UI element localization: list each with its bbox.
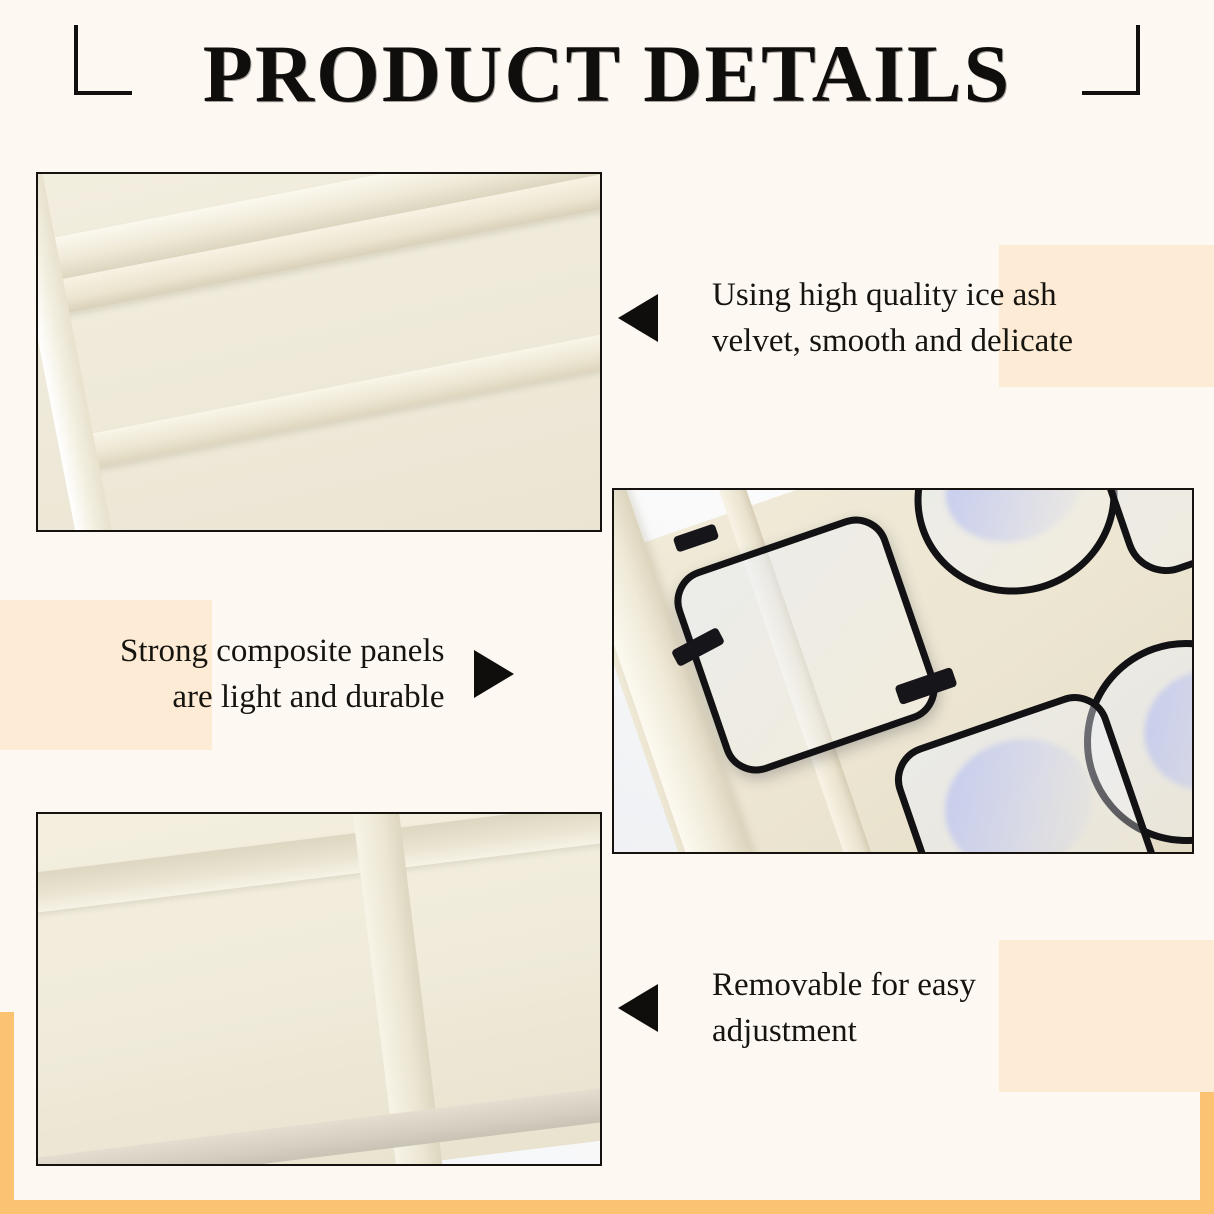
arrow-left-icon: [618, 984, 658, 1032]
product-photo-tray-corner: [36, 172, 602, 532]
product-photo-tray-panel: [36, 812, 602, 1166]
callout-removable-text: Removable for easy adjustment: [712, 962, 976, 1054]
arrow-right-icon: [474, 650, 514, 698]
callout-velvet: Using high quality ice ash velvet, smoot…: [618, 272, 1073, 364]
page-header: PRODUCT DETAILS: [0, 0, 1214, 150]
photo-content: [38, 174, 600, 530]
photo-content: [614, 490, 1192, 852]
arrow-left-icon: [618, 294, 658, 342]
callout-panels-text: Strong composite panels are light and du…: [120, 628, 444, 720]
callout-panels: Strong composite panels are light and du…: [120, 628, 514, 720]
page-title: PRODUCT DETAILS: [0, 26, 1214, 122]
product-photo-glasses-in-tray: [612, 488, 1194, 854]
photo-content: [38, 814, 600, 1164]
frame-border-left: [0, 1012, 14, 1214]
callout-velvet-text: Using high quality ice ash velvet, smoot…: [712, 272, 1073, 364]
frame-border-bottom: [0, 1200, 1214, 1214]
accent-block-bottom-right: [999, 940, 1214, 1092]
callout-removable: Removable for easy adjustment: [618, 962, 976, 1054]
